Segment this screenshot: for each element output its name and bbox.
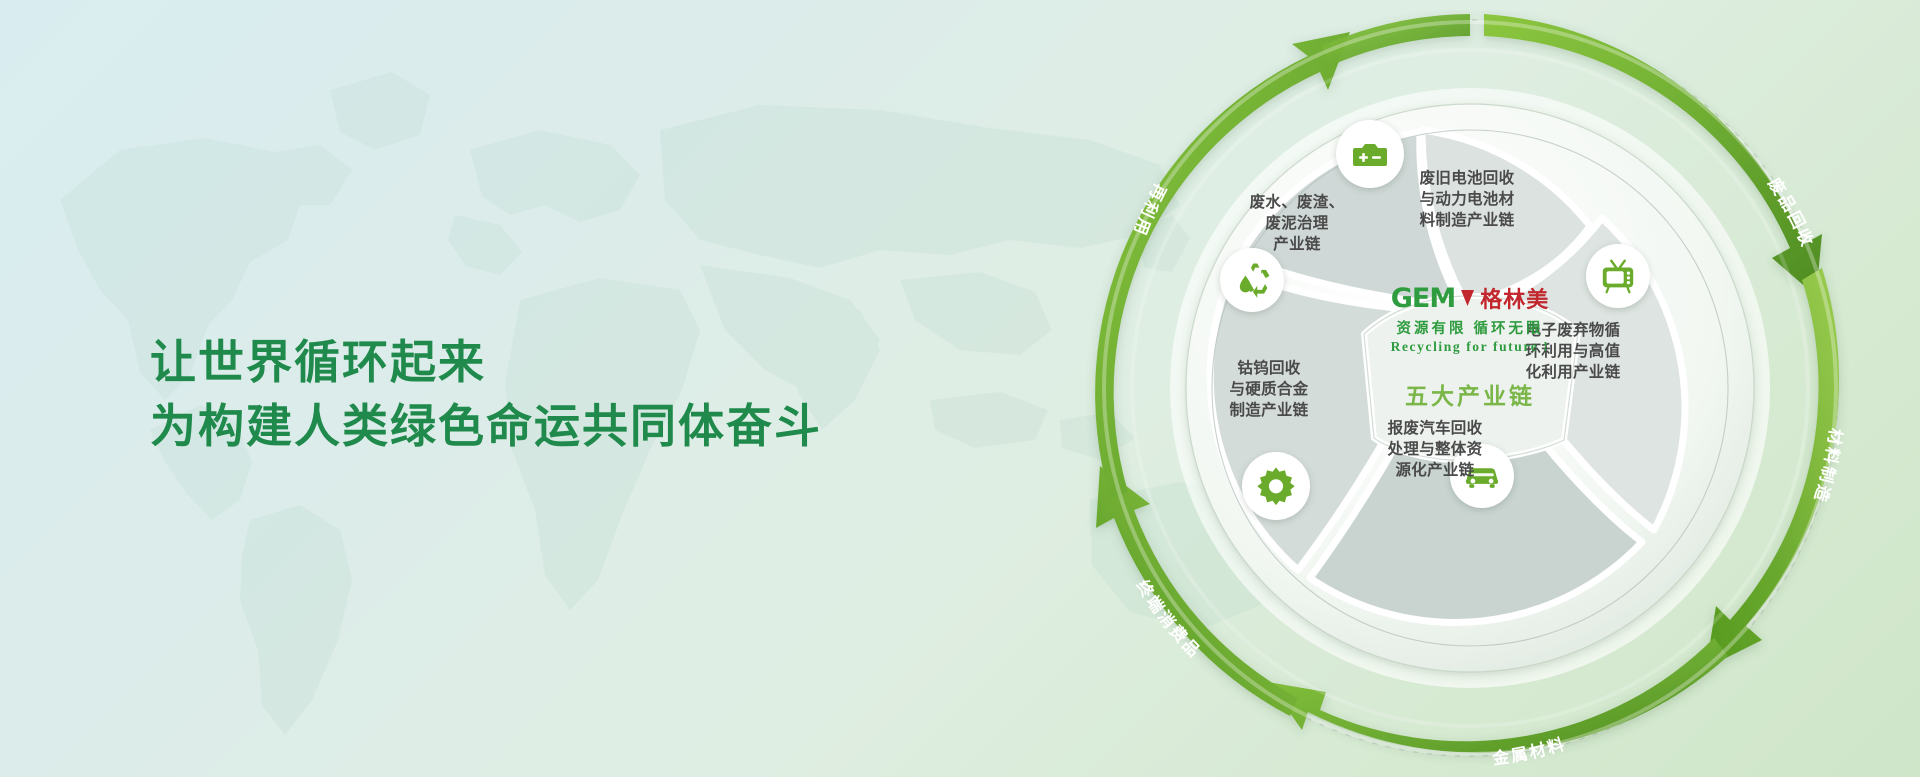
headline-block: 让世界循环起来 为构建人类绿色命运共同体奋斗 — [150, 330, 822, 458]
five-industry-chain-diagram: 废旧电池回收 与动力电池材 料制造产业链 废水、废渣、 废泥治理 产业链 电子废… — [1030, 10, 1910, 770]
ring-label-end-consumer: 终端消费品 — [1133, 576, 1205, 662]
ring-label-text: 金属材料 — [1490, 733, 1568, 769]
ring-label-material-making: 材料制造 — [1810, 427, 1846, 506]
ring-label-recycle-waste: 废品回收 — [1764, 174, 1818, 251]
headline-line-1: 让世界循环起来 — [150, 330, 822, 394]
ring-label-text: 终端消费品 — [1133, 576, 1205, 662]
ring-label-reuse: 再利用 — [1129, 181, 1169, 240]
headline-line-2: 为构建人类绿色命运共同体奋斗 — [150, 394, 822, 458]
ring-label-text: 废品回收 — [1764, 174, 1818, 251]
ring-label-metal-material: 金属材料 — [1490, 733, 1568, 769]
ring-label-layer: 废品回收 材料制造 金属材料 终端消费品 再利用 — [1030, 10, 1910, 770]
ring-label-text: 材料制造 — [1810, 427, 1846, 506]
ring-label-text: 再利用 — [1129, 181, 1169, 240]
